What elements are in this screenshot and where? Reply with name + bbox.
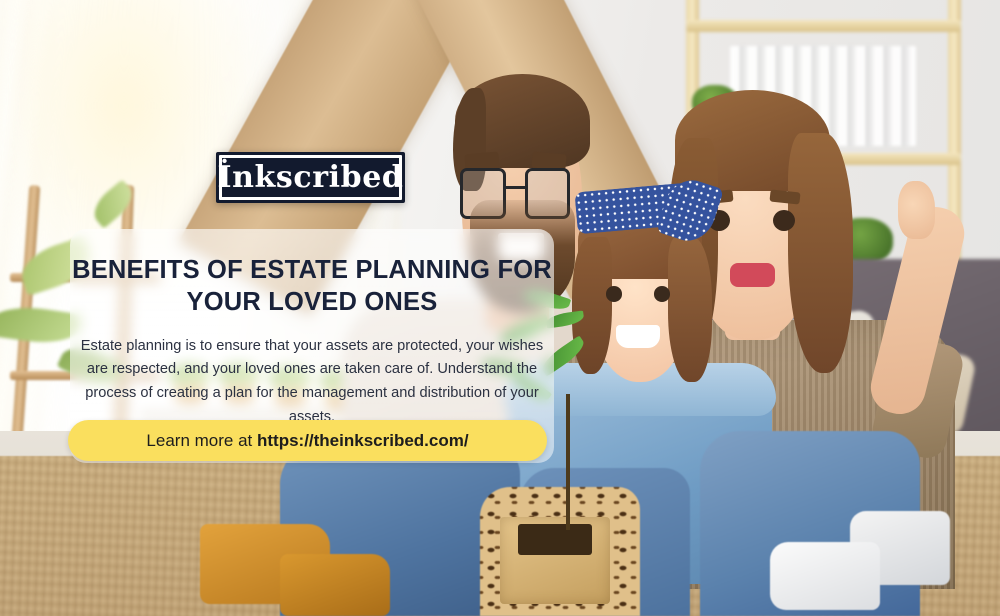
tan-boot [280, 554, 390, 616]
logo-inner-border: İnkscribed [219, 155, 402, 200]
poster-canvas: İnkscribed Benefits of Estate Planning f… [0, 0, 1000, 616]
cta-url[interactable]: https://theinkscribed.com/ [257, 431, 469, 450]
white-sneaker [770, 542, 880, 610]
logo-wordmark: İnkscribed [217, 163, 403, 193]
cta-prefix: Learn more at [146, 431, 257, 450]
body-text: Estate planning is to ensure that your a… [74, 335, 550, 430]
page-title: Benefits of Estate Planning for Your Lov… [70, 255, 554, 318]
brand-logo[interactable]: İnkscribed [216, 152, 405, 203]
wooden-planter-box [500, 517, 610, 603]
cta-label: Learn more at https://theinkscribed.com/ [146, 431, 468, 451]
learn-more-cta[interactable]: Learn more at https://theinkscribed.com/ [68, 420, 547, 461]
